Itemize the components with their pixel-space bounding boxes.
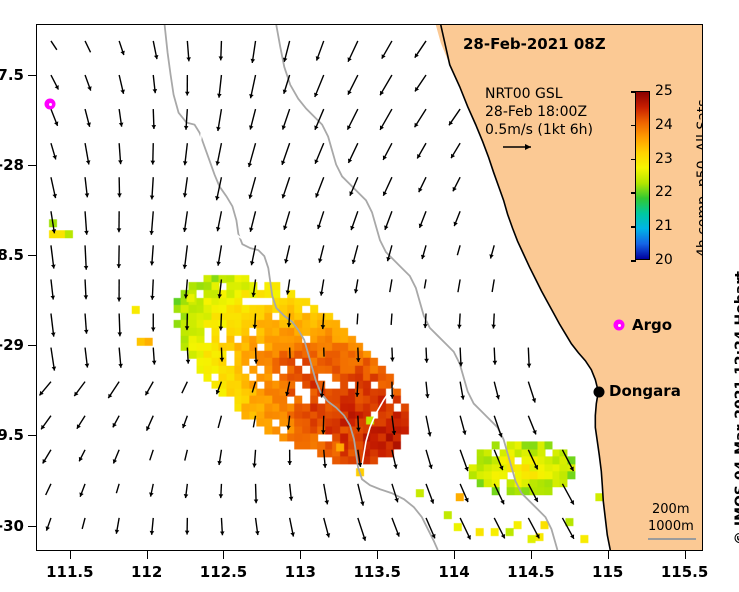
y-tick-label: -28.5: [0, 246, 24, 264]
y-tick-label: -29.5: [0, 426, 24, 444]
y-tick-label: -28: [0, 156, 24, 174]
y-tick-label: -27.5: [0, 66, 24, 84]
imos-credit: © IMOS 04-Mar-2021 12:24 Hobart: [733, 271, 739, 545]
y-tick-label: -30: [0, 517, 24, 535]
y-tick-label: -29: [0, 336, 24, 354]
y-axis-labels: -27.5-28-28.5-29-29.5-30: [0, 0, 739, 592]
sst-map-figure: Argo Dongara 28-Feb-2021 08Z NRT00 GSL 2…: [0, 0, 739, 592]
